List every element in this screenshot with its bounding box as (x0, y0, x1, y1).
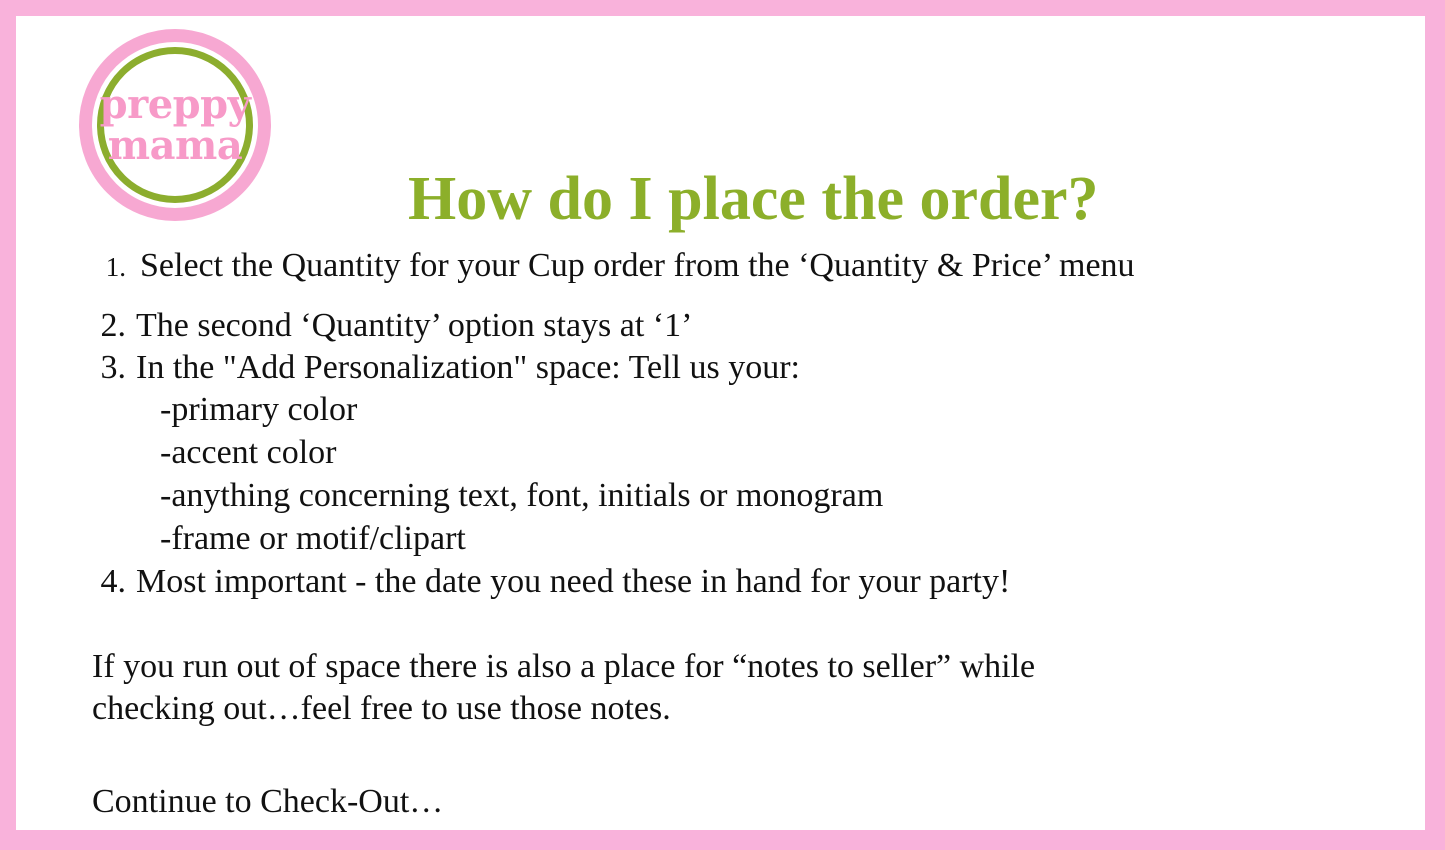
step-text-1: Select the Quantity for your Cup order f… (140, 246, 1135, 286)
logo-text-preppy: preppy (100, 85, 251, 124)
step-item-3: 3. In the "Add Personalization" space: T… (92, 348, 1415, 388)
step-text-4: Most important - the date you need these… (136, 562, 1010, 602)
notes-paragraph-line-1: If you run out of space there is also a … (92, 646, 1282, 689)
step-marker-2: 2. (92, 306, 126, 346)
sub-item-text-font-initials: -anything concerning text, font, initial… (160, 476, 1415, 517)
step-text-3: In the "Add Personalization" space: Tell… (136, 348, 800, 388)
sub-item-frame-motif: -frame or motif/clipart (160, 519, 1415, 560)
step-item-1: 1. Select the Quantity for your Cup orde… (92, 246, 1415, 286)
step-item-4: 4. Most important - the date you need th… (92, 562, 1415, 602)
page-title: How do I place the order? (408, 168, 1099, 230)
logo-wordmark: preppy mama (79, 29, 271, 221)
closing-line: Continue to Check-Out… (92, 781, 1415, 824)
preppy-mama-logo: preppy mama (79, 29, 271, 221)
sub-item-accent-color: -accent color (160, 433, 1415, 474)
step-marker-3: 3. (92, 348, 126, 388)
instructions-body: 1. Select the Quantity for your Cup orde… (92, 246, 1415, 823)
step-text-2: The second ‘Quantity’ option stays at ‘1… (136, 306, 692, 346)
card-inner-white-area: preppy mama How do I place the order? 1.… (16, 16, 1425, 830)
logo-text-mama: mama (108, 126, 242, 165)
step-item-2: 2. The second ‘Quantity’ option stays at… (92, 306, 1415, 346)
pink-bordered-card: preppy mama How do I place the order? 1.… (0, 0, 1445, 850)
notes-paragraph-line-2: checking out…feel free to use those note… (92, 688, 1282, 731)
sub-item-primary-color: -primary color (160, 390, 1415, 431)
step-marker-4: 4. (92, 562, 126, 602)
step-marker-1: 1. (92, 252, 126, 284)
